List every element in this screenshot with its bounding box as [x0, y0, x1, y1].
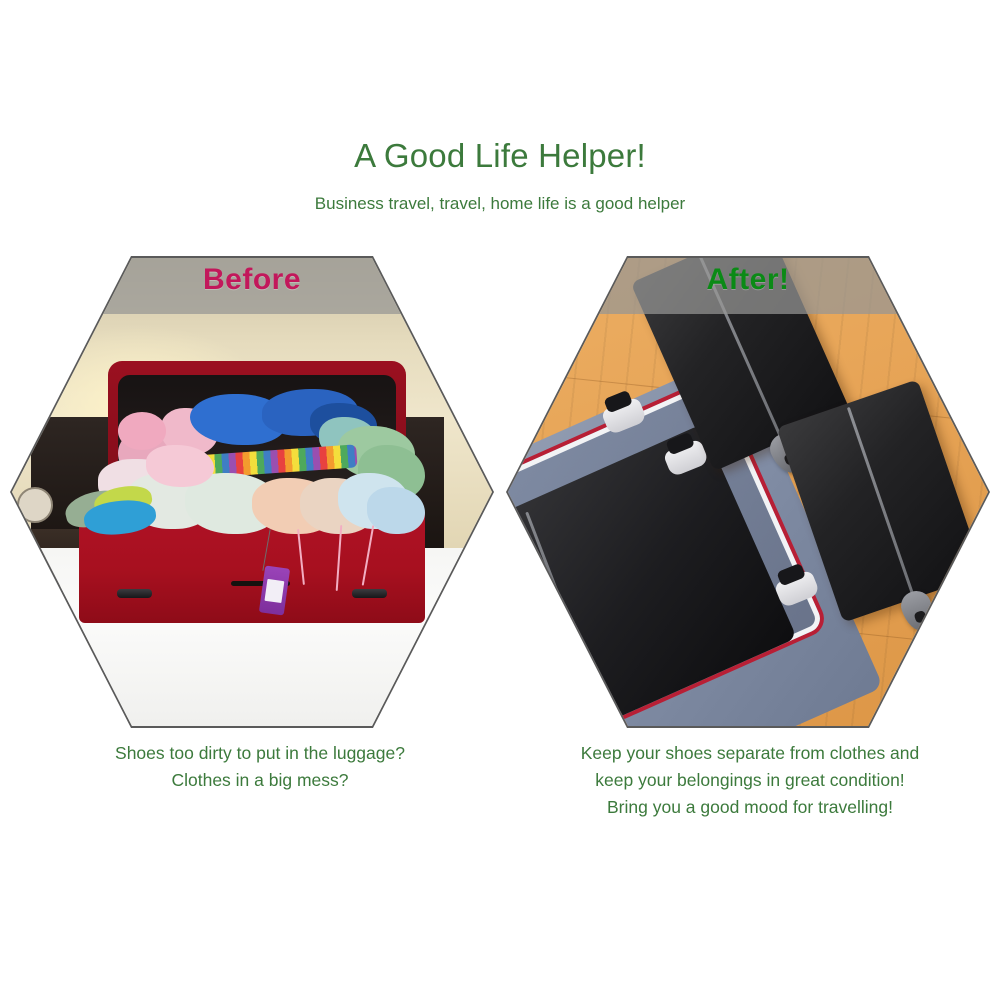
- page-title: A Good Life Helper!: [0, 137, 1000, 175]
- scene-before: Before: [12, 258, 492, 726]
- caption-line: Shoes too dirty to put in the luggage?: [40, 740, 480, 767]
- suitcase-wheel-right: [352, 589, 387, 598]
- zipper-line: [846, 407, 913, 595]
- clock-icon: [17, 487, 53, 523]
- before-label: Before: [12, 263, 492, 297]
- clothes-item: [146, 445, 213, 487]
- caption-after: Keep your shoes separate from clothes an…: [520, 740, 980, 821]
- infographic-page: A Good Life Helper! Business travel, tra…: [0, 0, 1000, 1000]
- after-label: After!: [508, 263, 988, 297]
- clothes-item: [367, 487, 425, 534]
- scene-after: After!: [508, 258, 988, 726]
- flip-flop: [118, 412, 166, 449]
- caption-line: Keep your shoes separate from clothes an…: [520, 740, 980, 767]
- caption-line: keep your belongings in great condition!: [520, 767, 980, 794]
- zipper-line: [525, 512, 605, 714]
- panel-after: After!: [508, 258, 988, 726]
- panel-before: Before: [12, 258, 492, 726]
- suitcase-strap: [508, 498, 510, 582]
- caption-before: Shoes too dirty to put in the luggage? C…: [40, 740, 480, 794]
- page-subtitle: Business travel, travel, home life is a …: [0, 194, 1000, 214]
- suitcase-wheel-left: [117, 589, 152, 598]
- caption-line: Bring you a good mood for travelling!: [520, 794, 980, 821]
- caption-line: Clothes in a big mess?: [40, 767, 480, 794]
